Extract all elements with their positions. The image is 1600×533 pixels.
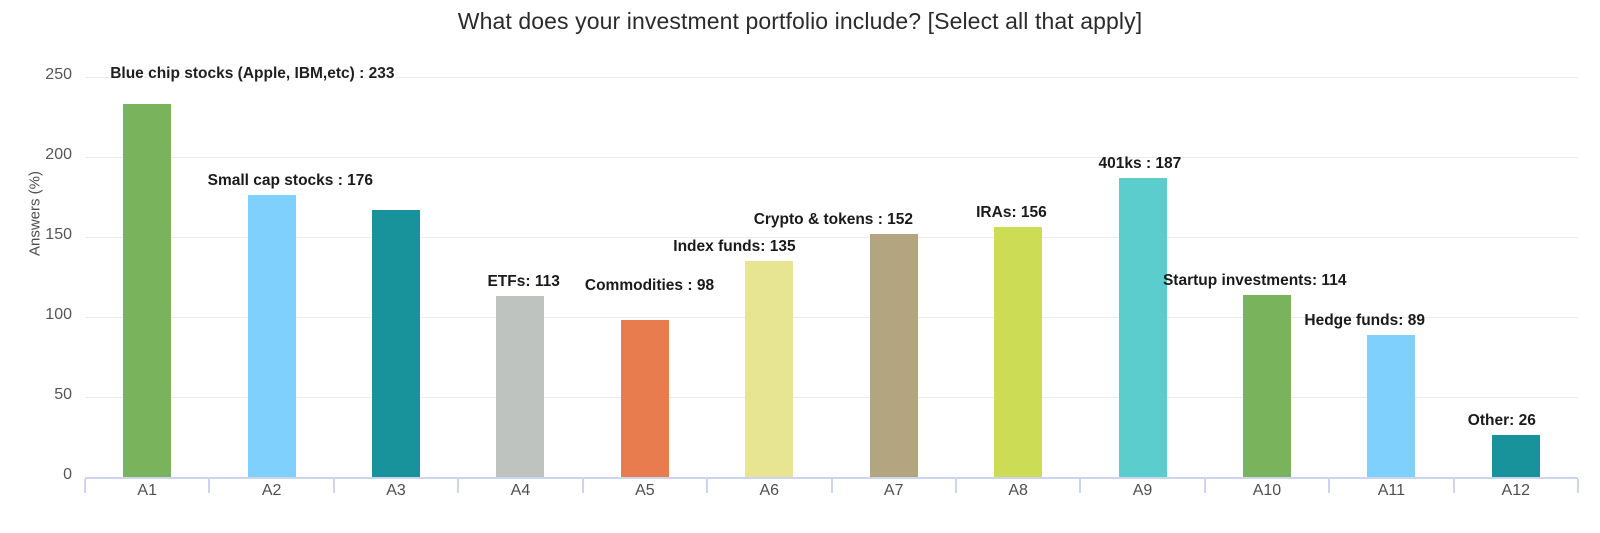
x-axis-tick-mark	[208, 479, 210, 493]
x-axis-tick-mark	[1079, 479, 1081, 493]
bar-data-label-A2: Small cap stocks : 176	[208, 173, 373, 189]
y-axis-title: Answers (%)	[27, 154, 44, 274]
x-axis-tick-label-A6: A6	[719, 482, 819, 500]
x-axis-tick-label-A4: A4	[470, 482, 570, 500]
bar-A6[interactable]	[745, 261, 793, 477]
bar-A9[interactable]	[1119, 178, 1167, 477]
x-axis-tick-label-A9: A9	[1093, 482, 1193, 500]
bar-data-label-A4: ETFs: 113	[487, 274, 559, 290]
bar-data-label-A7: Crypto & tokens : 152	[754, 212, 913, 228]
x-axis-tick-label-A2: A2	[222, 482, 322, 500]
bar-A7[interactable]	[870, 234, 918, 477]
bar-data-label-A9: 401ks : 187	[1099, 156, 1182, 172]
bar-A2[interactable]	[248, 195, 296, 477]
bar-A8[interactable]	[994, 227, 1042, 477]
x-axis-tick-label-A8: A8	[968, 482, 1068, 500]
y-axis-tick-label: 100	[28, 306, 72, 324]
bar-A3[interactable]	[372, 210, 420, 477]
x-axis-tick-mark	[582, 479, 584, 493]
gridline	[85, 157, 1578, 158]
y-axis-tick-label: 50	[28, 386, 72, 404]
x-axis-tick-label-A12: A12	[1466, 482, 1566, 500]
x-axis-tick-mark	[831, 479, 833, 493]
x-axis-tick-label-A7: A7	[844, 482, 944, 500]
bar-data-label-A11: Hedge funds: 89	[1304, 313, 1425, 329]
x-axis-tick-mark	[1453, 479, 1455, 493]
y-axis-tick-label: 0	[28, 466, 72, 484]
bar-A11[interactable]	[1367, 335, 1415, 477]
x-axis-tick-label-A5: A5	[595, 482, 695, 500]
x-axis-tick-mark	[706, 479, 708, 493]
gridline	[85, 397, 1578, 398]
plot-area: 050100150200250Blue chip stocks (Apple, …	[85, 77, 1578, 477]
x-axis-tick-mark	[1204, 479, 1206, 493]
bar-data-label-A6: Index funds: 135	[673, 239, 795, 255]
bar-data-label-A12: Other: 26	[1468, 413, 1536, 429]
x-axis-tick-label-A11: A11	[1341, 482, 1441, 500]
x-axis-tick-label-A3: A3	[346, 482, 446, 500]
x-axis-tick-mark	[955, 479, 957, 493]
bar-chart: What does your investment portfolio incl…	[0, 0, 1600, 533]
x-axis-tick-mark	[1328, 479, 1330, 493]
bar-A1[interactable]	[123, 104, 171, 477]
bar-A5[interactable]	[621, 320, 669, 477]
x-axis-tick-label-A1: A1	[97, 482, 197, 500]
x-axis-tick-label-A10: A10	[1217, 482, 1317, 500]
y-axis-tick-label: 150	[28, 226, 72, 244]
chart-title: What does your investment portfolio incl…	[0, 8, 1600, 35]
bar-data-label-A10: Startup investments: 114	[1163, 273, 1346, 289]
gridline	[85, 237, 1578, 238]
bar-A4[interactable]	[496, 296, 544, 477]
bar-data-label-A5: Commodities : 98	[585, 278, 714, 294]
x-axis-tick-mark	[457, 479, 459, 493]
bar-A10[interactable]	[1243, 295, 1291, 477]
bar-A12[interactable]	[1492, 435, 1540, 477]
y-axis-tick-label: 200	[28, 146, 72, 164]
x-axis-tick-mark	[84, 479, 86, 493]
x-axis-tick-mark	[1577, 479, 1579, 493]
bar-data-label-A8: IRAs: 156	[976, 205, 1047, 221]
y-axis-tick-label: 250	[28, 66, 72, 84]
x-axis-tick-mark	[333, 479, 335, 493]
bar-data-label-A1: Blue chip stocks (Apple, IBM,etc) : 233	[110, 66, 394, 82]
